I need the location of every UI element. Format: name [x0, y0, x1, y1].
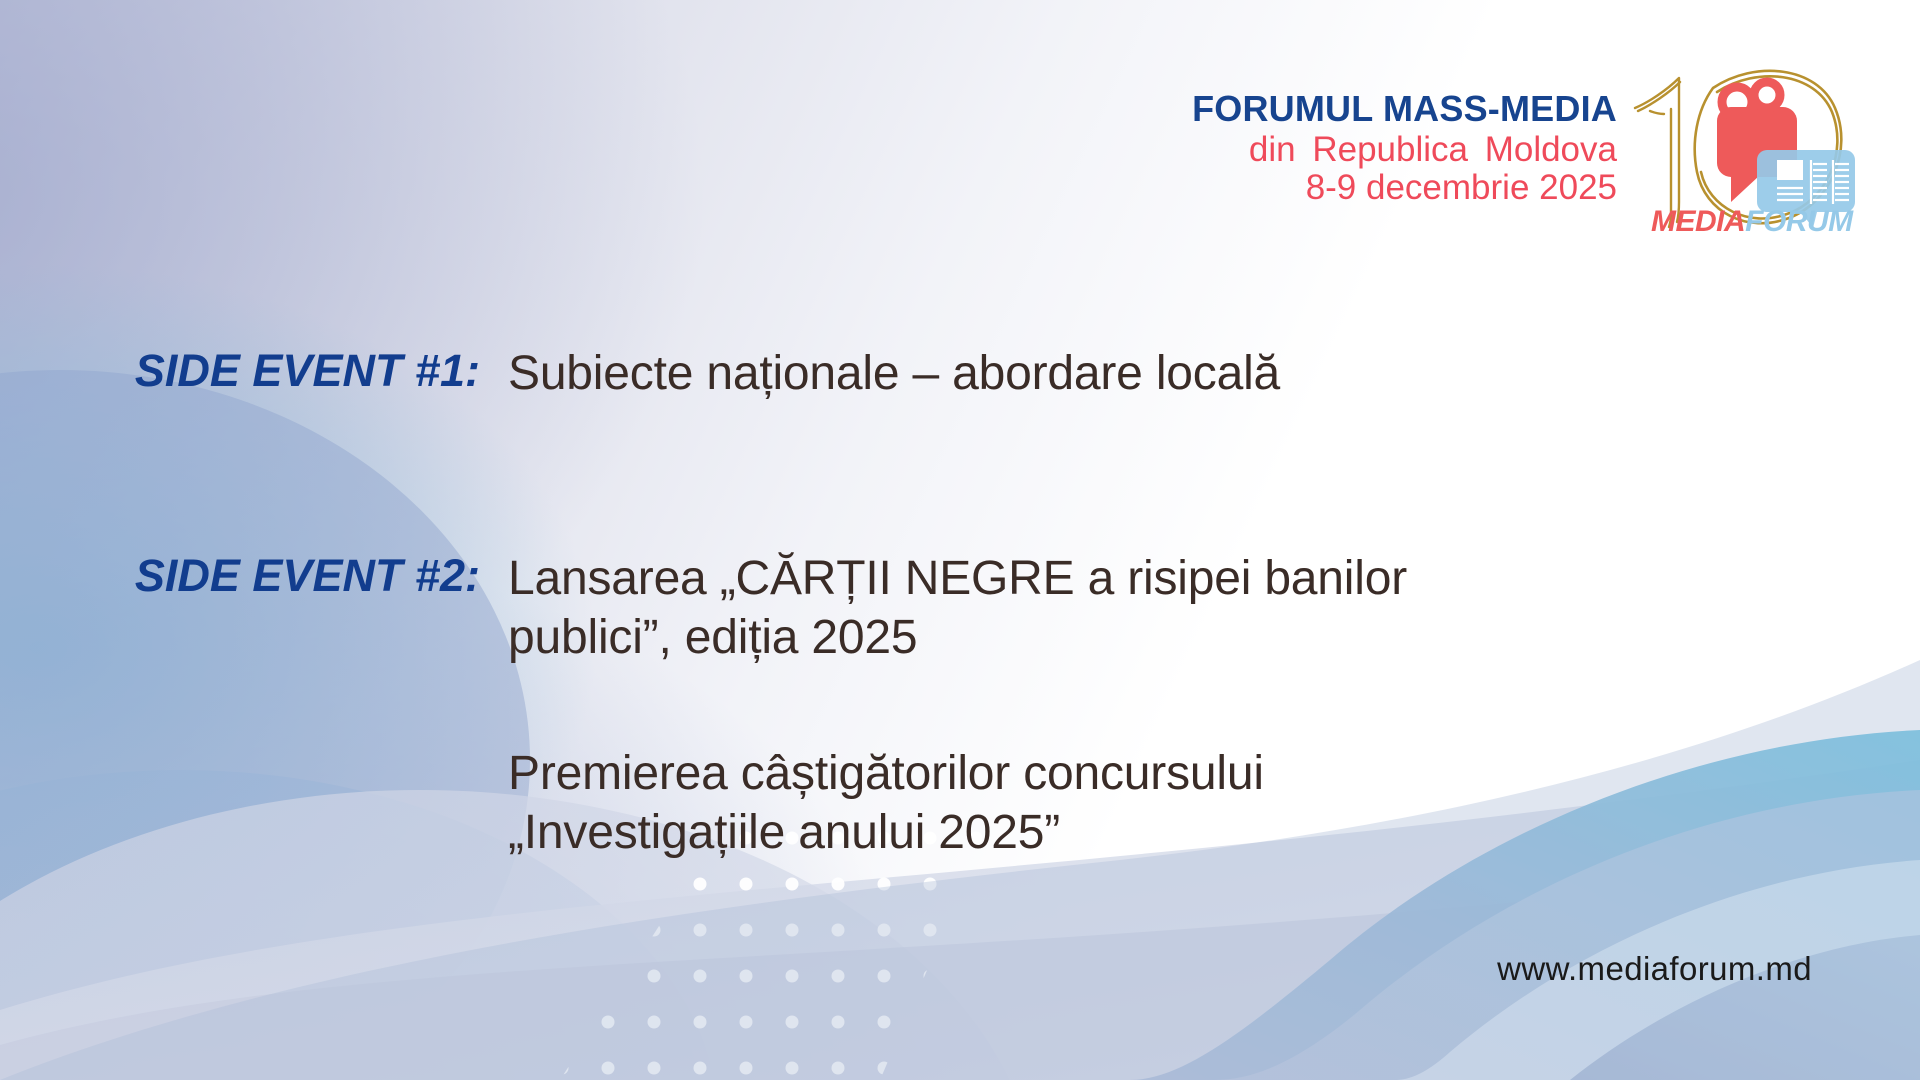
event-title-main: FORUMUL MASS-MEDIA	[1192, 90, 1617, 129]
side-event-3-line-1: Premierea câștigătorilor concursului	[508, 745, 1538, 804]
side-event-row-2: SIDE EVENT #2: Lansarea „CĂRȚII NEGRE a …	[100, 550, 1538, 667]
logo-wordmark-media: MEDIA	[1651, 205, 1745, 238]
side-event-row-3: Premierea câștigătorilor concursului „In…	[508, 745, 1538, 862]
side-event-1-line-1: Subiecte naționale – abordare locală	[508, 345, 1280, 404]
event-header: FORUMUL MASS-MEDIA din Republica Moldova…	[1192, 62, 1892, 247]
side-event-2-description: Lansarea „CĂRȚII NEGRE a risipei banilor…	[508, 550, 1538, 667]
logo-wordmark-forum: FORUM	[1745, 205, 1852, 238]
side-event-3-line-2: „Investigațiile anului 2025”	[508, 804, 1538, 863]
logo-wordmark: MEDIAFORUM	[1651, 205, 1891, 239]
media-forum-logo: MEDIAFORUM	[1627, 62, 1892, 247]
side-event-1-description: Subiecte naționale – abordare locală	[508, 345, 1280, 404]
website-url[interactable]: www.mediaforum.md	[1497, 950, 1812, 988]
side-event-row-1: SIDE EVENT #1: Subiecte naționale – abor…	[100, 345, 1280, 404]
event-title-location: din Republica Moldova	[1192, 131, 1617, 168]
side-event-1-label: SIDE EVENT #1:	[100, 345, 480, 397]
slide-canvas: FORUMUL MASS-MEDIA din Republica Moldova…	[0, 0, 1920, 1080]
side-event-2-label: SIDE EVENT #2:	[100, 550, 480, 602]
side-event-3-description: Premierea câștigătorilor concursului „In…	[508, 745, 1538, 862]
event-title-dates: 8-9 decembrie 2025	[1192, 169, 1617, 206]
event-title-block: FORUMUL MASS-MEDIA din Republica Moldova…	[1192, 62, 1617, 206]
side-event-2-line-2: publici”, ediția 2025	[508, 609, 1538, 668]
side-event-2-line-1: Lansarea „CĂRȚII NEGRE a risipei banilor	[508, 550, 1538, 609]
